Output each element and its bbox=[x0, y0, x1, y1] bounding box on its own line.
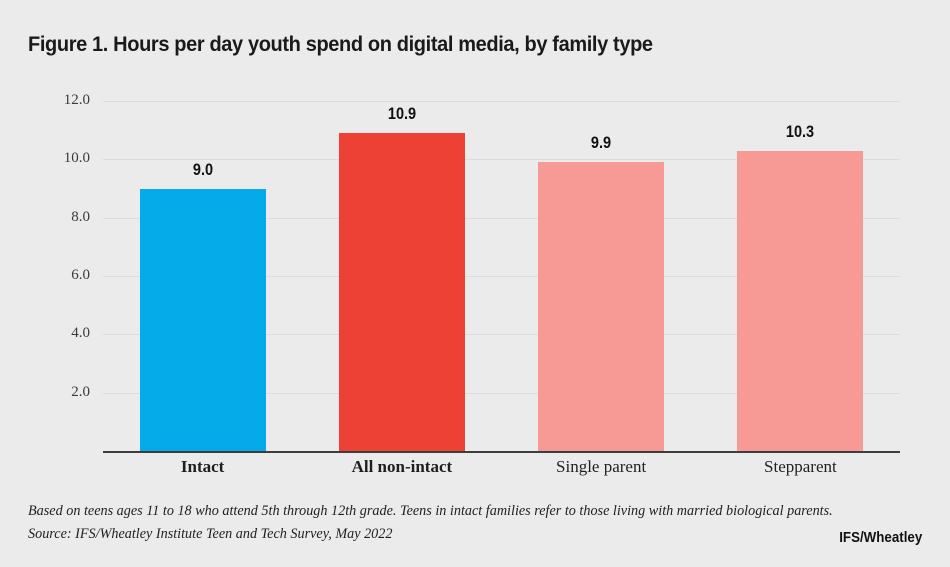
bar bbox=[538, 162, 664, 451]
footnote-line-2: Source: IFS/Wheatley Institute Teen and … bbox=[28, 523, 922, 546]
footnotes: Based on teens ages 11 to 18 who attend … bbox=[28, 500, 922, 546]
x-axis-category-label: Intact bbox=[103, 458, 302, 475]
attribution-label: IFS/Wheatley bbox=[839, 530, 922, 546]
chart-plot-area: 2.04.06.08.010.012.0 9.010.99.910.3 Inta… bbox=[0, 0, 950, 500]
bar-value-label: 10.9 bbox=[347, 106, 458, 123]
x-axis-category-label: All non-intact bbox=[302, 458, 501, 475]
bar-value-label: 10.3 bbox=[745, 124, 856, 141]
x-axis-baseline bbox=[103, 451, 900, 453]
footnote-line-1: Based on teens ages 11 to 18 who attend … bbox=[28, 500, 922, 523]
bar-value-label: 9.9 bbox=[546, 135, 657, 152]
x-axis-category-label: Stepparent bbox=[701, 458, 900, 475]
bar bbox=[140, 189, 266, 452]
bar bbox=[737, 151, 863, 451]
bar bbox=[339, 133, 465, 451]
bars-group bbox=[0, 0, 950, 451]
x-axis-category-label: Single parent bbox=[502, 458, 701, 475]
bar-value-label: 9.0 bbox=[148, 162, 259, 179]
